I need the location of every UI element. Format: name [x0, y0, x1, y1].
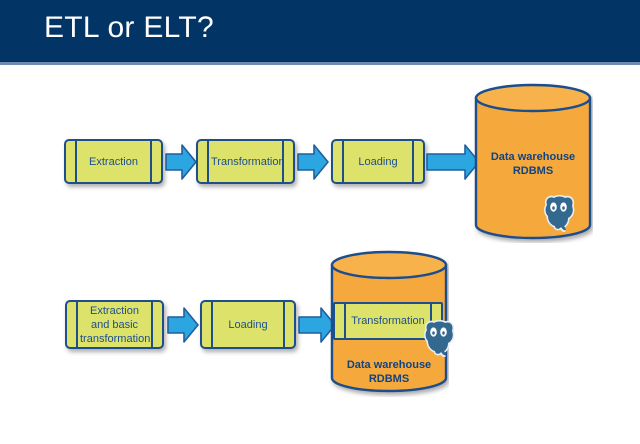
elt-data-warehouse-label: Data warehouse RDBMS	[329, 358, 449, 386]
postgresql-elephant-icon	[418, 317, 460, 359]
etl-step-transformation-label: Transformation	[211, 155, 280, 169]
box-divider-left	[76, 302, 78, 347]
etl-step-transformation: Transformation	[196, 139, 295, 184]
arrow-transformation-to-loading	[297, 143, 329, 181]
etl-step-loading-label: Loading	[346, 155, 410, 169]
arrow-loading-to-warehouse	[426, 143, 480, 181]
elt-step-extraction-label-line3: transformation	[80, 332, 149, 346]
box-divider-left	[342, 141, 344, 182]
title-bar-underline	[0, 62, 640, 65]
box-divider-right	[283, 302, 285, 347]
elt-step-extraction-label-line1: Extraction	[80, 304, 149, 318]
slide: ETL or ELT? Extraction Transformation Lo…	[0, 0, 640, 444]
etl-step-extraction: Extraction	[64, 139, 163, 184]
etl-step-loading: Loading	[331, 139, 425, 184]
box-divider-left	[75, 141, 77, 182]
box-divider-right	[150, 141, 152, 182]
elt-data-warehouse-label-line2: RDBMS	[329, 372, 449, 386]
elt-data-warehouse-label-line1: Data warehouse	[329, 358, 449, 372]
elt-inner-step-transformation-label: Transformation	[348, 314, 428, 328]
etl-step-extraction-label: Extraction	[79, 155, 148, 169]
arrow-extraction-to-loading	[167, 306, 199, 344]
etl-data-warehouse-label-line2: RDBMS	[473, 164, 593, 178]
elt-step-extraction-label-line2: and basic	[80, 318, 149, 332]
box-divider-left	[207, 141, 209, 182]
etl-data-warehouse-label-line1: Data warehouse	[473, 150, 593, 164]
box-divider-left	[211, 302, 213, 347]
arrow-extraction-to-transformation	[165, 143, 197, 181]
box-divider-left	[344, 304, 346, 338]
postgresql-elephant-icon	[538, 192, 580, 234]
elt-step-loading-label: Loading	[215, 318, 281, 332]
elt-step-extraction-label: Extraction and basic transformation	[80, 304, 149, 346]
page-title: ETL or ELT?	[44, 11, 214, 45]
elt-step-loading: Loading	[200, 300, 296, 349]
box-divider-right	[412, 141, 414, 182]
box-divider-right	[151, 302, 153, 347]
elt-step-extraction: Extraction and basic transformation	[65, 300, 164, 349]
etl-data-warehouse-label: Data warehouse RDBMS	[473, 150, 593, 178]
